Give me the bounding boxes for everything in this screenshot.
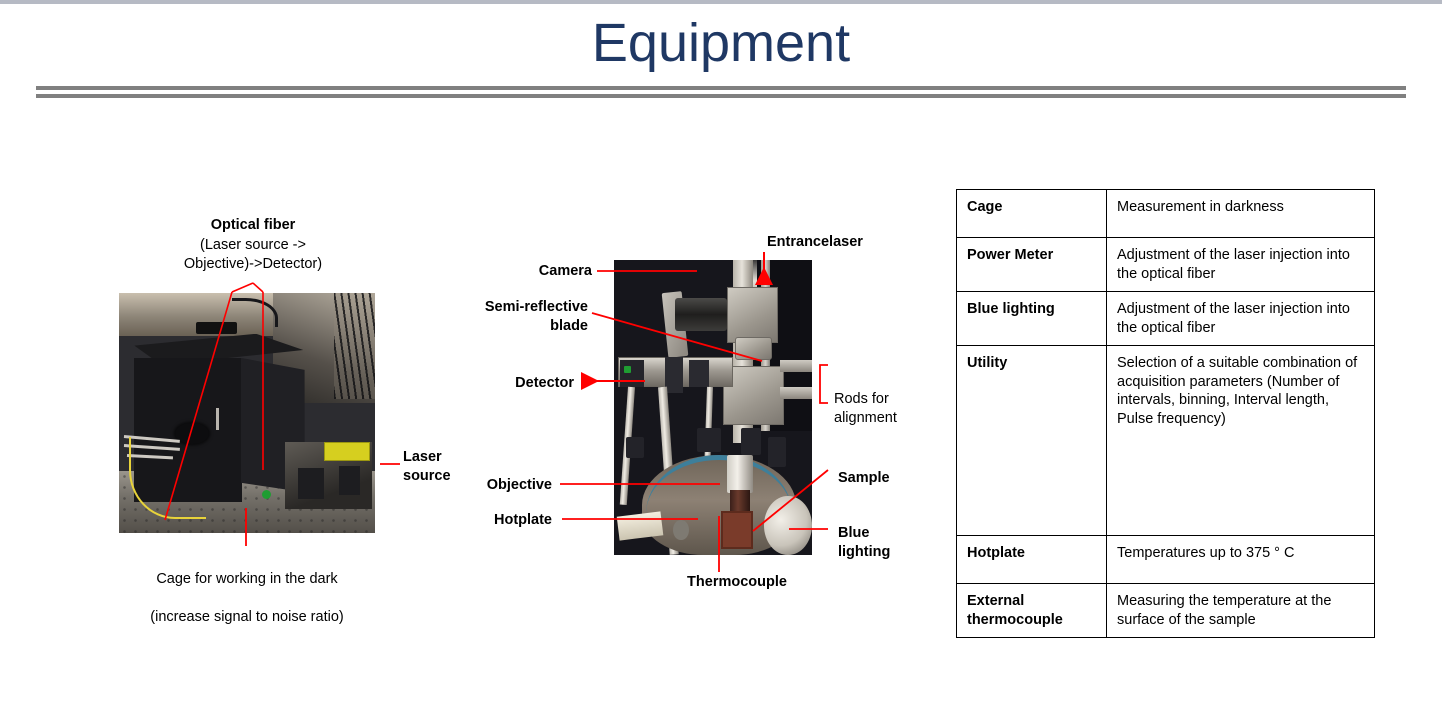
table-cell-key: Blue lighting <box>957 292 1107 346</box>
label-semi-reflective-blade: Semi-reflective blade <box>440 298 588 336</box>
table-cell-value: Measurement in darkness <box>1107 190 1375 238</box>
detector-led <box>624 366 631 373</box>
table-cell-key: External thermocouple <box>957 584 1107 638</box>
microscope-objective <box>727 455 753 493</box>
label-optical-fiber-detail: (Laser source -> Objective)->Detector) <box>148 236 358 274</box>
table-row: Cage Measurement in darkness <box>957 190 1375 238</box>
table-cell-value: Adjustment of the laser injection into t… <box>1107 238 1375 292</box>
camera-lens-barrel <box>675 298 726 330</box>
optic-component <box>697 428 721 452</box>
table-cell-value: Temperatures up to 375 ° C <box>1107 536 1375 584</box>
table-row: Blue lighting Adjustment of the laser in… <box>957 292 1375 346</box>
table-cell-key: Cage <box>957 190 1107 238</box>
label-sample: Sample <box>838 469 928 488</box>
laser-source-unit <box>324 442 370 461</box>
beam-splitter-holder <box>735 337 773 361</box>
label-rods-bold: Rods <box>834 391 868 407</box>
label-cage-bold: Cage <box>156 571 191 587</box>
table-cell-value: Selection of a suitable combination of a… <box>1107 346 1375 536</box>
label-blue-lighting: Blue lighting <box>838 524 928 562</box>
mounting-plate-top <box>727 287 778 343</box>
table-row: External thermocouple Measuring the temp… <box>957 584 1375 638</box>
fiber-pedestal <box>196 322 237 334</box>
equipment-table: Cage Measurement in darkness Power Meter… <box>956 189 1375 638</box>
table-row: Utility Selection of a suitable combinat… <box>957 346 1375 536</box>
hotplate <box>617 511 663 540</box>
title-divider-line-top <box>36 86 1406 90</box>
optical-mount <box>339 466 359 495</box>
table-cell-key: Utility <box>957 346 1107 536</box>
optic-component <box>741 428 761 455</box>
label-cage-rest: for working in the dark <box>191 571 338 587</box>
label-camera: Camera <box>480 262 592 281</box>
detector-housing <box>620 360 644 387</box>
optic-component <box>626 437 644 458</box>
optical-mount <box>298 468 324 499</box>
table-cell-value: Adjustment of the laser injection into t… <box>1107 292 1375 346</box>
photo-cage-setup <box>119 293 375 533</box>
title-divider-line-bottom <box>36 94 1406 98</box>
alignment-rod <box>780 360 812 372</box>
label-entrance-laser: Entrancelaser <box>767 233 907 252</box>
title-divider <box>36 86 1406 98</box>
label-detector: Detector <box>468 374 574 393</box>
label-thermocouple: Thermocouple <box>655 573 819 592</box>
sample-holder <box>721 511 753 549</box>
label-hotplate: Hotplate <box>440 511 552 530</box>
alignment-rod <box>780 387 812 399</box>
label-cage-line2: (increase signal to noise ratio) <box>150 609 343 625</box>
optic-block <box>689 360 709 387</box>
table-cell-value: Measuring the temperature at the surface… <box>1107 584 1375 638</box>
leader-rods-bracket <box>820 365 828 403</box>
label-cage-caption: Cage for working in the dark (increase s… <box>116 551 378 627</box>
blue-lighting-lamp <box>764 496 812 555</box>
label-rods-for-alignment: Rods for alignment <box>834 371 954 428</box>
optic-block <box>665 357 683 392</box>
table-cell-key: Power Meter <box>957 238 1107 292</box>
page-title: Equipment <box>0 10 1442 76</box>
cable-bundle <box>334 293 375 399</box>
top-window-strip <box>0 0 1442 4</box>
label-optical-fiber-title: Optical fiber <box>155 216 351 235</box>
table-row: Power Meter Adjustment of the laser inje… <box>957 238 1375 292</box>
table-cell-key: Hotplate <box>957 536 1107 584</box>
label-objective: Objective <box>440 476 552 495</box>
optic-component <box>768 437 786 467</box>
mount-post <box>216 408 219 430</box>
table-row: Hotplate Temperatures up to 375 ° C <box>957 536 1375 584</box>
photo-optical-head <box>614 260 812 555</box>
